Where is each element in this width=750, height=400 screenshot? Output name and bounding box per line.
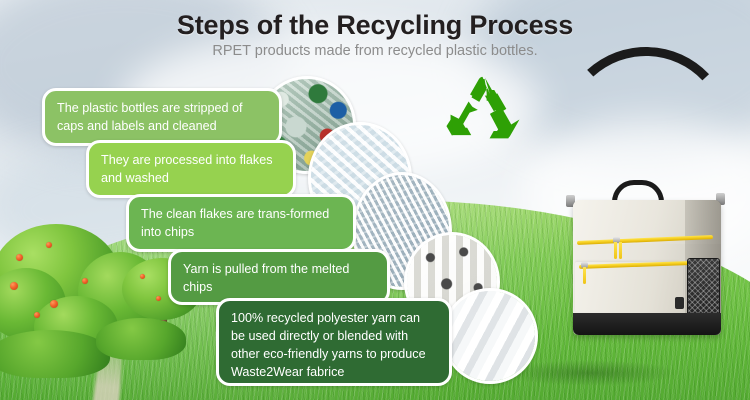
step-box-5[interactable]: 100% recycled polyester yarn can be used…	[216, 298, 452, 386]
apple-fruit	[34, 312, 40, 318]
apple-fruit	[16, 254, 23, 261]
apple-fruit	[140, 274, 145, 279]
step-1-text: The plastic bottles are stripped of caps…	[57, 101, 243, 133]
apple-fruit	[10, 282, 18, 290]
page-title: Steps of the Recycling Process	[0, 10, 750, 41]
apple-fruit	[82, 278, 88, 284]
main-zipper-pull[interactable]	[619, 242, 622, 259]
apple-fruit	[46, 242, 52, 248]
front-pocket[interactable]	[575, 262, 683, 312]
bag-base	[573, 313, 721, 335]
step-3-text: The clean flakes are trans-formed into c…	[141, 207, 329, 239]
apple-fruit	[50, 300, 58, 308]
shrub	[96, 318, 186, 360]
step-2-text: They are processed into flakes and washe…	[101, 153, 273, 185]
shrub	[0, 330, 110, 378]
pocket-zipper-pull[interactable]	[583, 267, 586, 284]
step-box-1[interactable]: The plastic bottles are stripped of caps…	[42, 88, 282, 146]
step-box-4[interactable]: Yarn is pulled from the melted chips	[168, 249, 390, 305]
step-box-2[interactable]: They are processed into flakes and washe…	[86, 140, 296, 198]
step-4-text: Yarn is pulled from the melted chips	[183, 262, 349, 294]
step-box-3[interactable]: The clean flakes are trans-formed into c…	[126, 194, 356, 252]
bag-body	[573, 200, 721, 335]
photo-white-fabric	[442, 288, 538, 384]
step-5-text: 100% recycled polyester yarn can be used…	[231, 311, 426, 379]
recycle-icon	[444, 72, 526, 154]
insulated-cooler-bag	[540, 55, 750, 345]
main-zipper-pull[interactable]	[614, 242, 617, 259]
brand-tag	[675, 297, 684, 309]
recycling-process-infographic: Steps of the Recycling Process RPET prod…	[0, 0, 750, 400]
apple-fruit	[156, 296, 161, 301]
